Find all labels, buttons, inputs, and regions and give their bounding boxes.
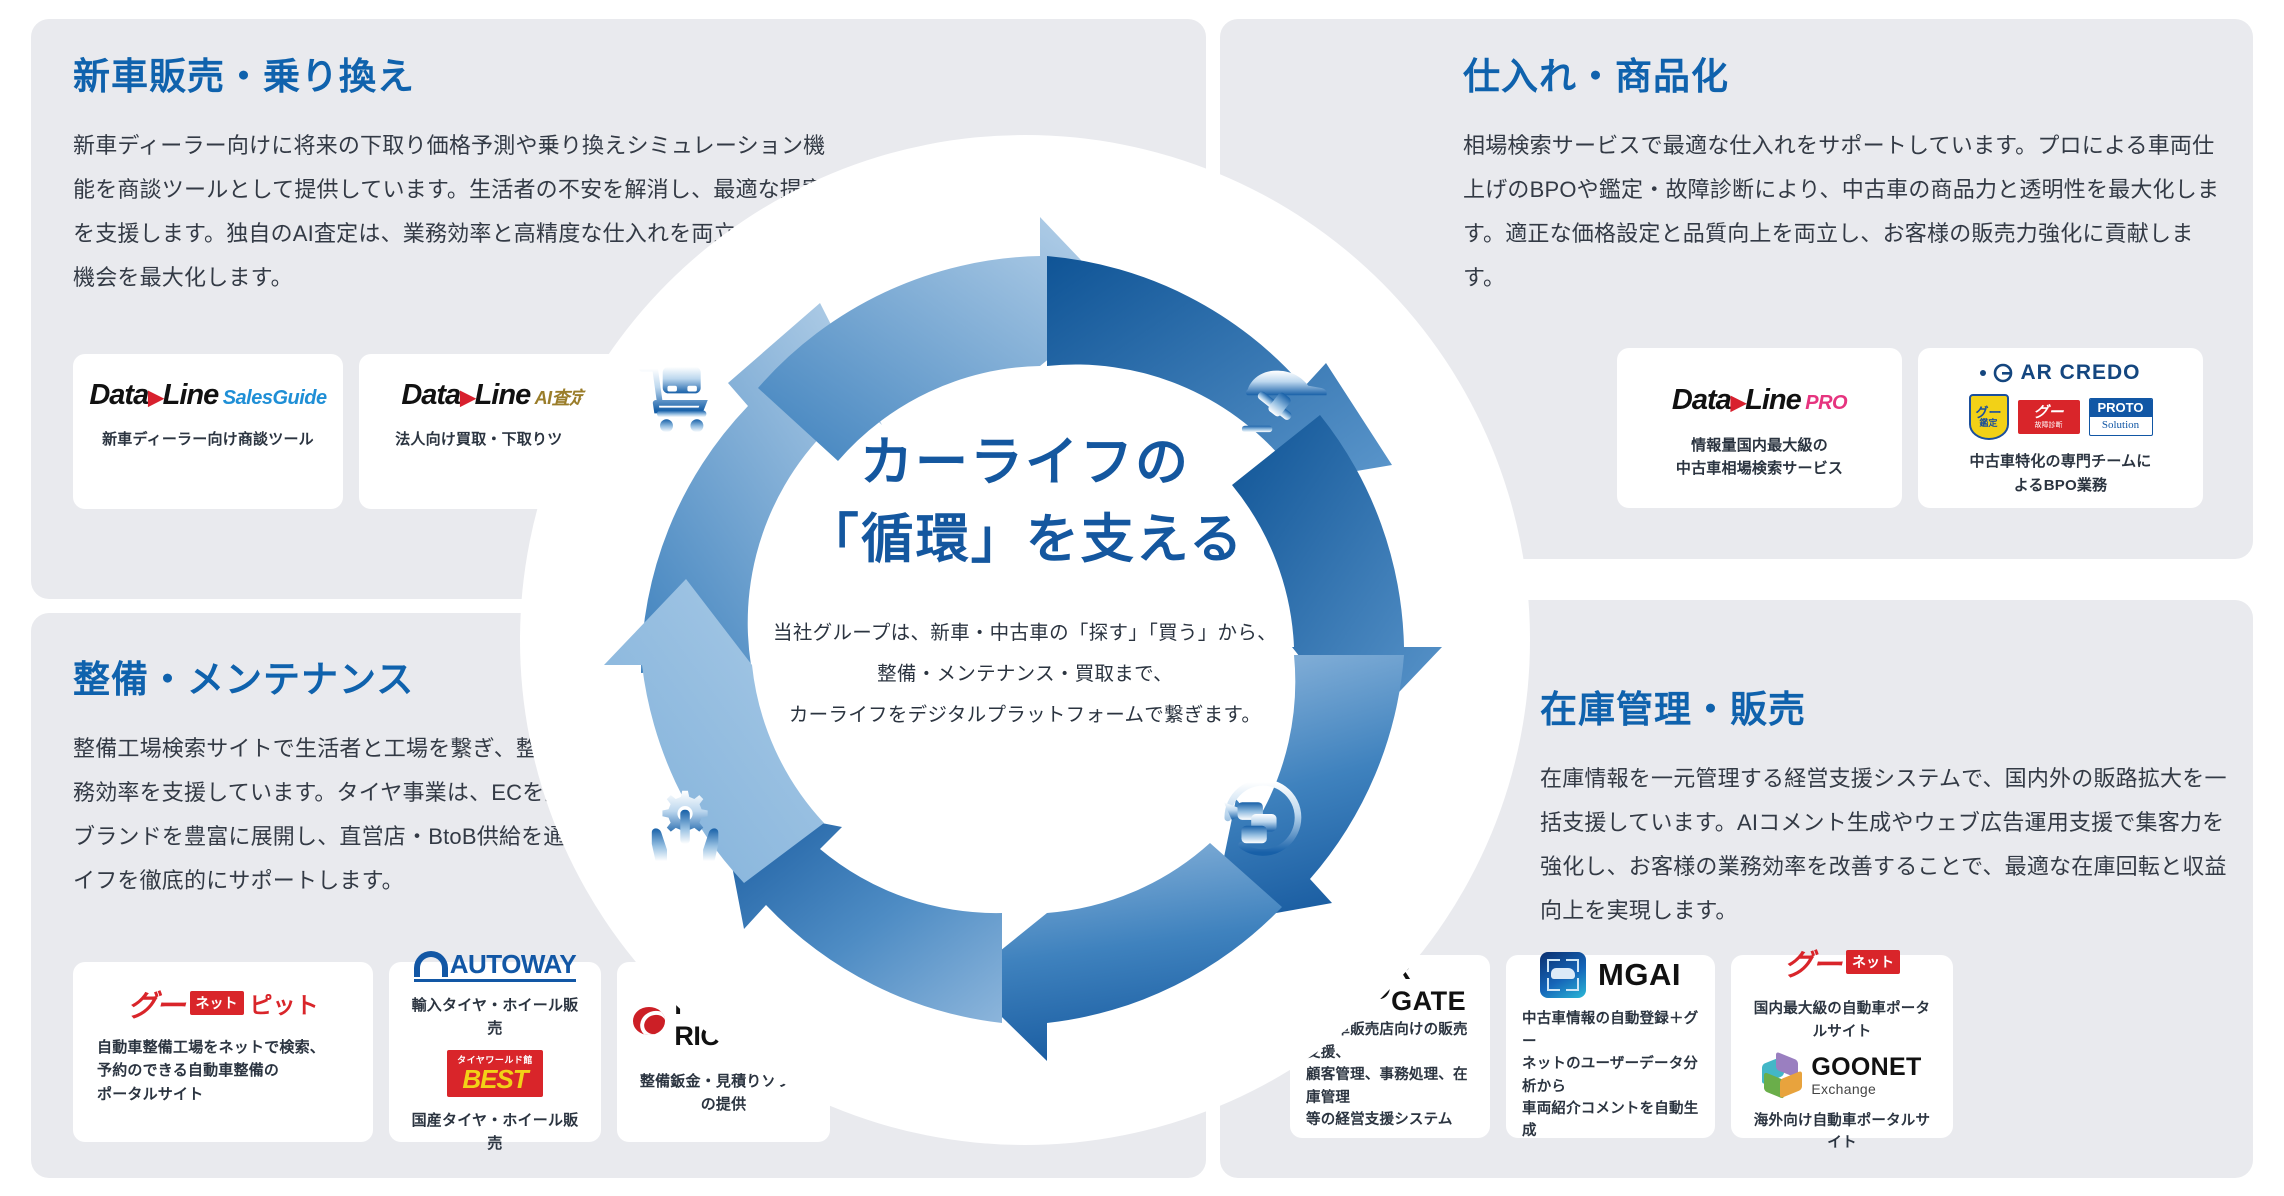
logo-text-data: Data [1672,384,1731,416]
card-caption-goonet: 国内最大級の自動車ポータルサイト [1747,998,1937,1043]
hub-subtitle-line2: 整備・メンテナンス・買取まで、 [680,654,1370,695]
logo-subtext-salesguide: SalesGuide [223,387,327,409]
logo-dataline-salesguide: Data▶Line SalesGuide [89,372,326,418]
proto-solution-badge-icon: PROTO Solution [2089,398,2153,436]
section-body-procurement: 相場検索サービスで最適な仕入れをサポートしています。プロによる車両仕上げのBPO… [1463,124,2223,300]
logo-goo-net-pit: グー ネット ピット [128,980,319,1026]
section-title-inventory-sales: 在庫管理・販売 [1540,690,2240,731]
card-caption-line3: 車両紹介コメントを自動生成 [1522,1098,1699,1143]
badge-text-koshou: 故障診断 [2035,422,2063,429]
logo-text-net: ネット [1846,950,1900,974]
card-caption: 新車ディーラー向け商談ツール [102,428,314,451]
hub-text-block: カーライフの 「循環」を支える 当社グループは、新車・中古車の「探す」「買う」か… [680,425,1370,736]
badge-text-solution: Solution [2090,417,2152,433]
card-caption-line1: 自動車整備工場をネットで検索、 [89,1036,325,1059]
hub-title-line2: 「循環」を支える [680,502,1370,579]
card-caption-line1: 情報量国内最大級の [1691,434,1828,457]
section-title-new-car-sales: 新車販売・乗り換え [73,57,833,98]
card-caption-line1: 中古車情報の自動登録＋グー [1522,1008,1699,1053]
section-inventory-sales: 在庫管理・販売 在庫情報を一元管理する経営支援システムで、国内外の販路拡大を一括… [1540,690,2240,933]
mgai-car-scan-icon [1540,952,1586,998]
card-caption-line3: ポータルサイト [89,1083,203,1106]
logo-text-data: Data [89,379,148,411]
badge-text-proto: PROTO [2090,399,2152,417]
section-title-procurement: 仕入れ・商品化 [1463,57,2223,98]
goonet-hexagon-icon [1762,1056,1802,1096]
card-mgai[interactable]: MGAI 中古車情報の自動登録＋グー ネットのユーザーデータ分析から 車両紹介コ… [1506,955,1715,1138]
bullet-dot-icon [1980,370,1986,376]
central-cycle-diagram: カーライフの 「循環」を支える 当社グループは、新車・中古車の「探す」「買う」か… [520,135,1530,1145]
card-goo-net-exchange[interactable]: グー ネット 国内最大級の自動車ポータルサイト GOONET Exchange … [1731,955,1953,1138]
section-procurement: 仕入れ・商品化 相場検索サービスで最適な仕入れをサポートしています。プロによる車… [1463,57,2223,300]
logo-dataline-pro: Data▶Line PRO [1672,378,1847,424]
logo-text-data: Data [401,379,460,411]
card-goo-net-pit[interactable]: グー ネット ピット 自動車整備工場をネットで検索、 予約のできる自動車整備の … [73,962,373,1142]
logo-text-goonet: GOONET [1811,1055,1921,1080]
card-caption-line2: 中古車相場検索サービス [1676,457,1843,480]
card-car-credo[interactable]: AR CREDO グー 鑑定 グー 故障診断 PROTO Solution [1918,348,2203,508]
section-body-inventory-sales: 在庫情報を一元管理する経営支援システムで、国内外の販路拡大を一括支援しています。… [1540,757,2240,933]
logo-text-pit: ピット [250,986,319,1020]
card-caption-goonet-exchange: 海外向け自動車ポータルサイト [1747,1110,1937,1155]
card-caption-line2: ネットのユーザーデータ分析から [1522,1053,1699,1098]
logo-text-goo: グー [128,981,184,1025]
card-caption-line2: よるBPO業務 [2014,474,2107,497]
card-dataline-pro[interactable]: Data▶Line PRO 情報量国内最大級の 中古車相場検索サービス [1617,348,1902,508]
autoway-arc-icon [414,951,448,977]
goo-koshou-shindan-badge-icon: グー 故障診断 [2018,400,2080,434]
logo-text-line: Line [163,379,219,411]
logo-car-credo: AR CREDO グー 鑑定 グー 故障診断 PROTO Solution [1969,361,2153,440]
infographic-canvas: 新車販売・乗り換え 新車ディーラー向けに将来の下取り価格予測や乗り換えシミュレー… [0,0,2284,1196]
logo-text-car-credo: AR CREDO [2020,361,2140,385]
logo-subtext-pro: PRO [1805,392,1847,414]
logo-text-line: Line [1745,384,1801,416]
logo-text-goo: グー [1784,940,1840,984]
logo-text-best: BEST [462,1066,527,1092]
badge-text-kantei: 鑑定 [1979,419,1997,428]
badge-text-goo: グー [2033,405,2063,420]
goo-kantei-badge-icon: グー 鑑定 [1969,394,2009,440]
hub-subtitle-line3: カーライフをデジタルプラットフォームで繋ぎます。 [680,695,1370,736]
card-group-procurement: Data▶Line PRO 情報量国内最大級の 中古車相場検索サービス AR C… [1617,348,2203,508]
logo-text-net: ネット [190,991,244,1015]
card-caption-line1: 中古車特化の専門チームに [1970,450,2152,473]
card-dataline-salesguide[interactable]: Data▶Line SalesGuide 新車ディーラー向け商談ツール [73,354,343,509]
logo-text-mgai: MGAI [1598,957,1681,993]
logo-mgai: MGAI [1540,952,1681,998]
arrow-bottom-right [964,843,1282,1061]
credo-c-circle-icon [1993,363,2013,383]
logo-goo-net: グー ネット [1784,940,1900,984]
logo-goonet-exchange: GOONET Exchange [1762,1055,1921,1096]
card-caption-line2: 予約のできる自動車整備の [89,1059,279,1082]
logo-text-exchange: Exchange [1811,1082,1921,1096]
hub-subtitle-line1: 当社グループは、新車・中古車の「探す」「買う」から、 [680,613,1370,654]
shopping-cart-car-icon [642,367,707,432]
hub-title-line1: カーライフの [680,425,1370,502]
